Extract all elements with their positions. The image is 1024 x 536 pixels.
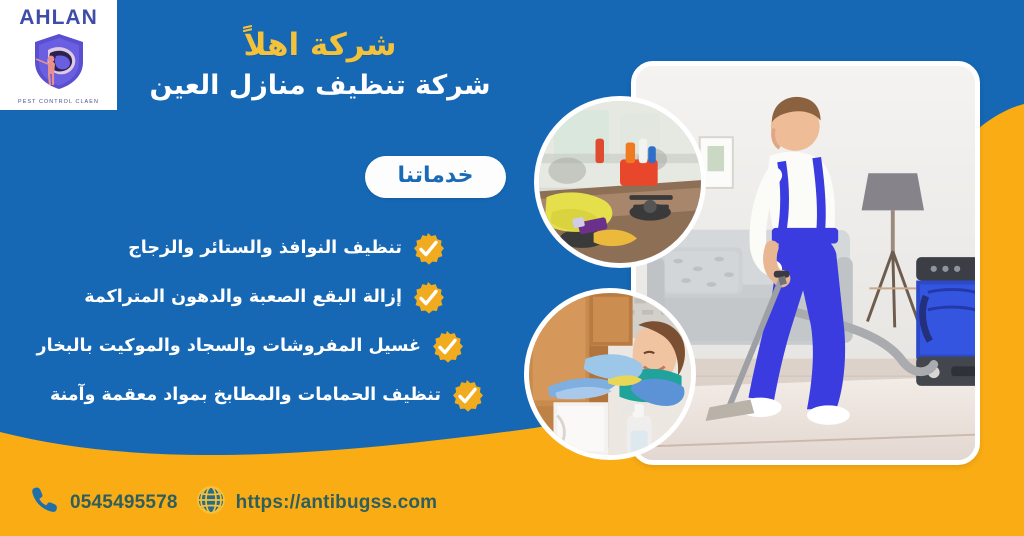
services-list: تنظيف النوافذ والستائر والزجاج إزالة الب… [0,224,500,420]
services-badge-label: خدماتنا [398,163,474,188]
promotional-banner: AHLAN PEST CONTROL CLAEN شركة اهلاً شر [0,0,1024,536]
website-contact[interactable]: https://antibugss.com [196,485,438,519]
shield-icon [28,30,90,96]
website-url: https://antibugss.com [236,493,438,512]
phone-icon [30,485,60,519]
check-badge-icon [450,379,484,413]
services-badge: خدماتنا [365,156,506,198]
list-item: تنظيف الحمامات والمطابخ بمواد معقمة وآمن… [0,371,500,420]
list-item: غسيل المفروشات والسجاد والموكيت بالبخار [0,322,480,371]
page-title: شركة اهلاً [120,26,520,65]
service-label: تنظيف النوافذ والستائر والزجاج [128,240,402,258]
check-badge-icon [430,330,464,364]
company-logo: AHLAN PEST CONTROL CLAEN [0,0,117,110]
heading-block: شركة اهلاً شركة تنظيف منازل العين [120,26,520,103]
check-badge-icon [411,232,445,266]
service-label: غسيل المفروشات والسجاد والموكيت بالبخار [37,338,421,356]
page-subtitle: شركة تنظيف منازل العين [120,68,520,103]
phone-number: 0545495578 [70,493,178,512]
footer-contact-bar: 0545495578 https://antibugss.com [30,485,437,519]
service-label: إزالة البقع الصعبة والدهون المتراكمة [84,289,402,307]
logo-tagline: PEST CONTROL CLAEN [18,99,99,105]
list-item: إزالة البقع الصعبة والدهون المتراكمة [0,273,461,322]
globe-icon [196,485,226,519]
list-item: تنظيف النوافذ والستائر والزجاج [0,224,461,273]
phone-contact[interactable]: 0545495578 [30,485,178,519]
logo-wordmark: AHLAN [19,7,98,28]
check-badge-icon [411,281,445,315]
circle-photo-stove-cleaning [534,96,706,268]
service-label: تنظيف الحمامات والمطابخ بمواد معقمة وآمن… [50,387,441,405]
circle-photo-cabinet-cleaning [524,288,696,460]
